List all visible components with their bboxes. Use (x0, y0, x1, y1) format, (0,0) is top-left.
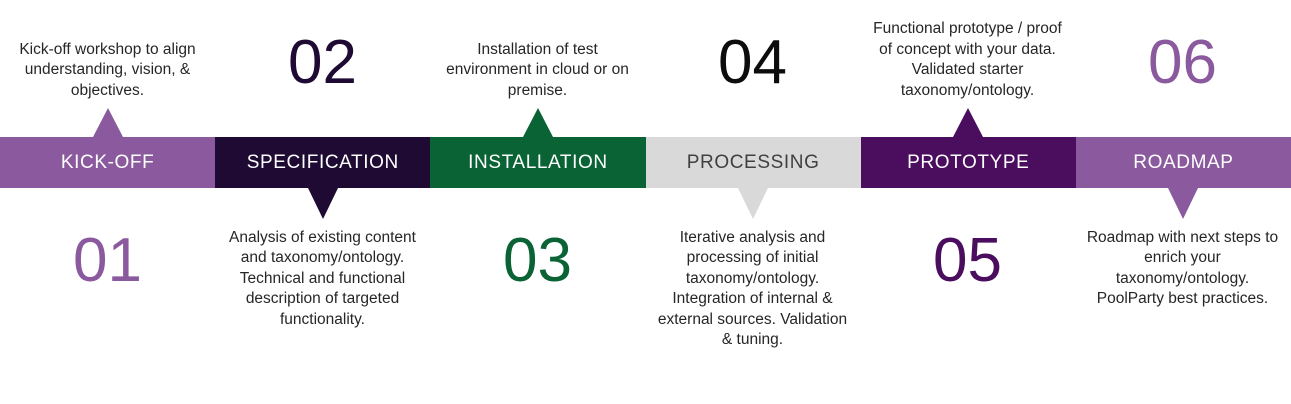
phase-description-slot: Roadmap with next steps to enrich your t… (1075, 192, 1290, 372)
phase-number-roadmap: 06 (1075, 32, 1290, 94)
phase-number-slot: 05 (860, 192, 1075, 372)
phase-number-slot: 04 (645, 0, 860, 133)
phase-description-prototype: Functional prototype / proof of concept … (860, 19, 1075, 101)
phase-description-kick-off: Kick-off workshop to align understanding… (0, 40, 215, 101)
phase-pointer-up-icon (93, 108, 123, 137)
phase-number-kick-off: 01 (0, 230, 215, 292)
phase-label: PROTOTYPE (907, 153, 1029, 172)
phase-label: SPECIFICATION (247, 153, 399, 172)
phase-label: ROADMAP (1133, 153, 1233, 172)
phase-description-slot: Analysis of existing content and taxonom… (215, 192, 430, 372)
phase-number-prototype: 05 (860, 230, 1075, 292)
process-timeline-diagram: Kick-off workshop to align understanding… (0, 0, 1291, 404)
phase-number-slot: 06 (1075, 0, 1290, 133)
phase-description-slot: Iterative analysis and processing of ini… (645, 192, 860, 372)
phase-segment-specification[interactable]: SPECIFICATION (215, 137, 430, 188)
phase-label: INSTALLATION (468, 153, 608, 172)
phase-pointer-up-icon (953, 108, 983, 137)
phase-segment-installation[interactable]: INSTALLATION (430, 137, 645, 188)
phase-number-slot: 02 (215, 0, 430, 133)
phase-description-specification: Analysis of existing content and taxonom… (215, 228, 430, 330)
phase-label: KICK-OFF (61, 153, 154, 172)
phase-number-slot: 03 (430, 192, 645, 372)
phase-number-processing: 04 (645, 32, 860, 94)
phase-segment-roadmap[interactable]: ROADMAP (1076, 137, 1291, 188)
phase-bar: KICK-OFFSPECIFICATIONINSTALLATIONPROCESS… (0, 137, 1291, 188)
phase-segment-processing[interactable]: PROCESSING (646, 137, 861, 188)
phase-segment-prototype[interactable]: PROTOTYPE (861, 137, 1076, 188)
phase-description-roadmap: Roadmap with next steps to enrich your t… (1075, 228, 1290, 310)
phase-description-processing: Iterative analysis and processing of ini… (645, 228, 860, 351)
phase-number-slot: 01 (0, 192, 215, 372)
phase-number-specification: 02 (215, 32, 430, 94)
phase-number-installation: 03 (430, 230, 645, 292)
phase-pointer-up-icon (523, 108, 553, 137)
phase-segment-kick-off[interactable]: KICK-OFF (0, 137, 215, 188)
phase-description-installation: Installation of test environment in clou… (430, 40, 645, 101)
phase-label: PROCESSING (687, 153, 820, 172)
